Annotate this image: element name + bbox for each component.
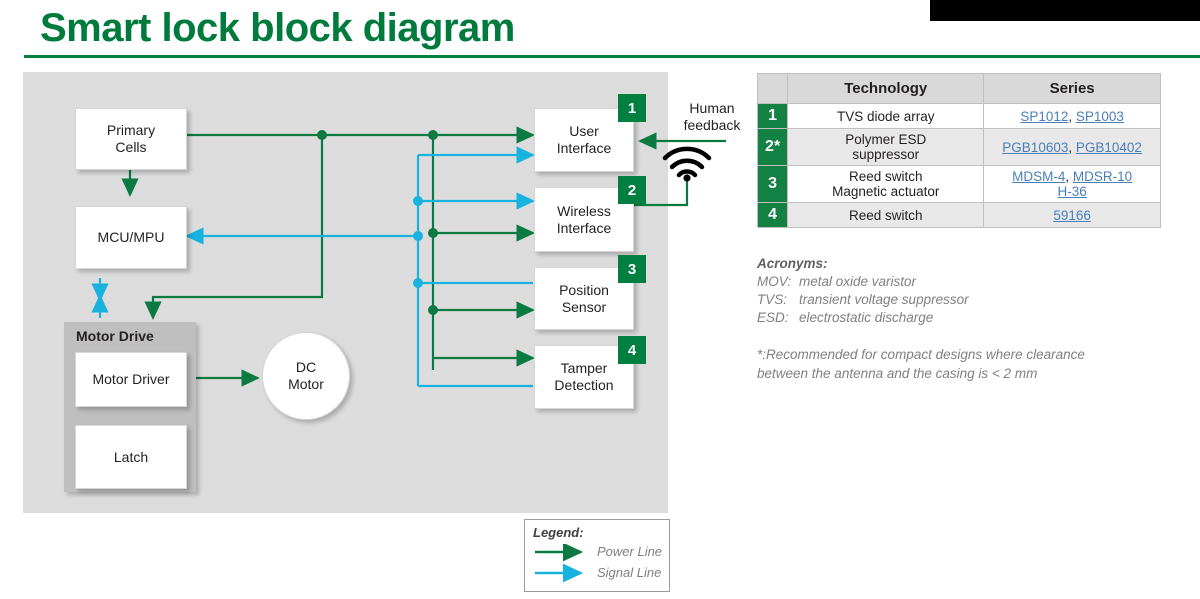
block-position-sensor-line2: Sensor [562, 299, 606, 315]
legend-arrows [533, 544, 593, 586]
wifi-icon [665, 149, 709, 175]
table-header-row: Technology Series [758, 74, 1161, 104]
table-row-3-num: 3 [758, 166, 788, 203]
footnote: *:Recommended for compact designs where … [757, 345, 1157, 383]
block-motor-driver-label: Motor Driver [92, 371, 169, 388]
block-user-interface-line2: Interface [557, 140, 611, 156]
annotation-human-feedback: Human feedback [674, 100, 750, 134]
acronym-key-mov: MOV: [757, 273, 799, 291]
link-pgb10402[interactable]: PGB10402 [1076, 140, 1142, 155]
table-header-num [758, 74, 788, 104]
block-primary-cells-line1: Primary [107, 122, 155, 138]
table-row-2-series: PGB10603, PGB10402 [984, 129, 1161, 166]
table-row-1-technology: TVS diode array [788, 104, 984, 129]
legend-item-power-line: Power Line [597, 544, 662, 559]
link-pgb10603[interactable]: PGB10603 [1002, 140, 1068, 155]
legend-title: Legend: [533, 525, 584, 540]
legend: Legend: Power Line Signal Line [524, 519, 670, 592]
table-row-4-num: 4 [758, 203, 788, 228]
link-sp1003[interactable]: SP1003 [1076, 109, 1124, 124]
acronyms-block: Acronyms: MOV:metal oxide varistor TVS:t… [757, 255, 969, 327]
table-row-2-tech-line2: suppressor [852, 147, 919, 162]
top-black-bar [930, 0, 1200, 21]
block-tamper-detection-line2: Detection [554, 377, 613, 393]
block-dc-motor-line1: DC [296, 359, 316, 375]
block-dc-motor-line2: Motor [288, 376, 324, 392]
table-row: 1 TVS diode array SP1012, SP1003 [758, 104, 1161, 129]
block-dc-motor[interactable]: DC Motor [262, 332, 350, 420]
table-header-series: Series [984, 74, 1161, 104]
table-row: 2* Polymer ESD suppressor PGB10603, PGB1… [758, 129, 1161, 166]
badge-4: 4 [618, 336, 646, 364]
block-tamper-detection-line1: Tamper [561, 360, 608, 376]
table-row-2-tech-line1: Polymer ESD [845, 132, 926, 147]
acronym-key-tvs: TVS: [757, 291, 799, 309]
link-sp1012[interactable]: SP1012 [1020, 109, 1068, 124]
block-mcu-mpu[interactable]: MCU/MPU [75, 206, 187, 269]
block-latch[interactable]: Latch [75, 425, 187, 489]
table-row-2-num: 2* [758, 129, 788, 166]
series-sep: , [1068, 140, 1076, 155]
link-h-36[interactable]: H-36 [1057, 184, 1086, 199]
acronym-value-mov: metal oxide varistor [799, 274, 916, 289]
badge-2: 2 [618, 176, 646, 204]
block-primary-cells-line2: Cells [115, 139, 146, 155]
block-primary-cells[interactable]: Primary Cells [75, 108, 187, 170]
table-row-2-technology: Polymer ESD suppressor [788, 129, 984, 166]
block-wireless-interface-line1: Wireless [557, 203, 611, 219]
acronym-value-esd: electrostatic discharge [799, 310, 933, 325]
group-motor-drive-label: Motor Drive [76, 328, 154, 344]
human-feedback-line2: feedback [684, 117, 741, 133]
technology-table: Technology Series 1 TVS diode array SP10… [757, 73, 1161, 228]
table-header-technology: Technology [788, 74, 984, 104]
block-position-sensor-line1: Position [559, 282, 609, 298]
table-row-3-tech-line1: Reed switch [849, 169, 923, 184]
human-feedback-line1: Human [689, 100, 734, 116]
table-row-4-technology: Reed switch [788, 203, 984, 228]
table-row-3-tech-line2: Magnetic actuator [832, 184, 939, 199]
block-latch-label: Latch [114, 449, 148, 466]
block-mcu-mpu-label: MCU/MPU [98, 229, 165, 246]
table-row-4-series: 59166 [984, 203, 1161, 228]
legend-item-signal-line: Signal Line [597, 565, 661, 580]
title-underline [24, 55, 1200, 58]
footnote-line1: *:Recommended for compact designs where … [757, 347, 1085, 362]
page-title: Smart lock block diagram [40, 2, 515, 54]
link-mdsr-10[interactable]: MDSR-10 [1073, 169, 1132, 184]
series-sep: , [1068, 109, 1076, 124]
table-row-1-series: SP1012, SP1003 [984, 104, 1161, 129]
table-row-1-num: 1 [758, 104, 788, 129]
block-wireless-interface-line2: Interface [557, 220, 611, 236]
link-59166[interactable]: 59166 [1053, 208, 1091, 223]
series-sep: , [1065, 169, 1073, 184]
link-mdsm-4[interactable]: MDSM-4 [1012, 169, 1065, 184]
block-motor-driver[interactable]: Motor Driver [75, 352, 187, 407]
wifi-dot [683, 174, 690, 181]
acronym-value-tvs: transient voltage suppressor [799, 292, 969, 307]
badge-3: 3 [618, 255, 646, 283]
acronym-key-esd: ESD: [757, 309, 799, 327]
block-user-interface-line1: User [569, 123, 599, 139]
footnote-line2: between the antenna and the casing is < … [757, 366, 1037, 381]
acronyms-title: Acronyms: [757, 256, 828, 271]
table-row: 3 Reed switch Magnetic actuator MDSM-4, … [758, 166, 1161, 203]
badge-1: 1 [618, 94, 646, 122]
table-row-3-technology: Reed switch Magnetic actuator [788, 166, 984, 203]
table-row: 4 Reed switch 59166 [758, 203, 1161, 228]
table-row-3-series: MDSM-4, MDSR-10H-36 [984, 166, 1161, 203]
